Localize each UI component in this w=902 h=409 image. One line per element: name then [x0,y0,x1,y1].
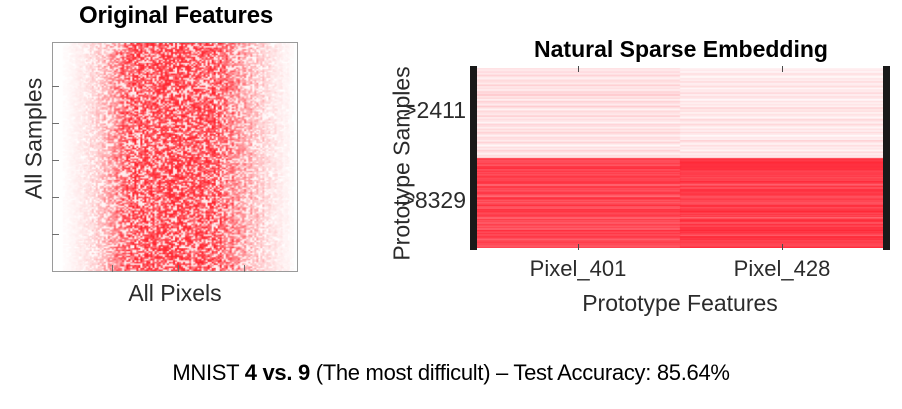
left-xtick-1 [112,265,113,272]
right-chart-title: Natural Sparse Embedding [472,36,890,63]
left-ytick-3 [52,160,59,161]
original-features-plot [52,42,298,272]
right-xtick-label-1: Pixel_401 [476,256,680,282]
left-ytick-5 [52,234,59,235]
left-ytick-1 [52,86,59,87]
original-features-panel: Original Features All Samples All Pixels [0,0,330,320]
left-ytick-2 [52,123,59,124]
original-features-scatter-canvas [53,43,297,271]
heatmap-xtick-bottom-1 [578,244,579,250]
heatmap-right-border [883,66,890,250]
right-axis-label-x: Prototype Features [470,290,890,317]
caption-suffix: (The most difficult) – Test Accuracy: 85… [310,360,730,385]
natural-sparse-embedding-panel: Natural Sparse Embedding >2411 >8329 Pix… [330,0,902,330]
heatmap-left-border [470,66,477,250]
heatmap-xtick-bottom-2 [782,244,783,250]
left-axis-label-x: All Pixels [52,280,298,307]
sparse-embedding-heatmap [470,66,890,250]
left-xtick-2 [178,265,179,272]
left-chart-title: Original Features [52,2,300,30]
heatmap-xtick-top-2 [782,66,783,72]
figure-caption: MNIST 4 vs. 9 (The most difficult) – Tes… [0,360,902,386]
sparse-embedding-canvas [476,68,884,248]
right-axis-label-y: Prototype Samples [389,24,416,304]
left-xtick-3 [244,265,245,272]
caption-emphasis: 4 vs. 9 [245,360,310,385]
left-ytick-4 [52,197,59,198]
left-axis-label-y: All Samples [21,39,48,239]
right-xtick-label-2: Pixel_428 [680,256,884,282]
heatmap-xtick-top-1 [578,66,579,72]
caption-prefix: MNIST [172,360,244,385]
